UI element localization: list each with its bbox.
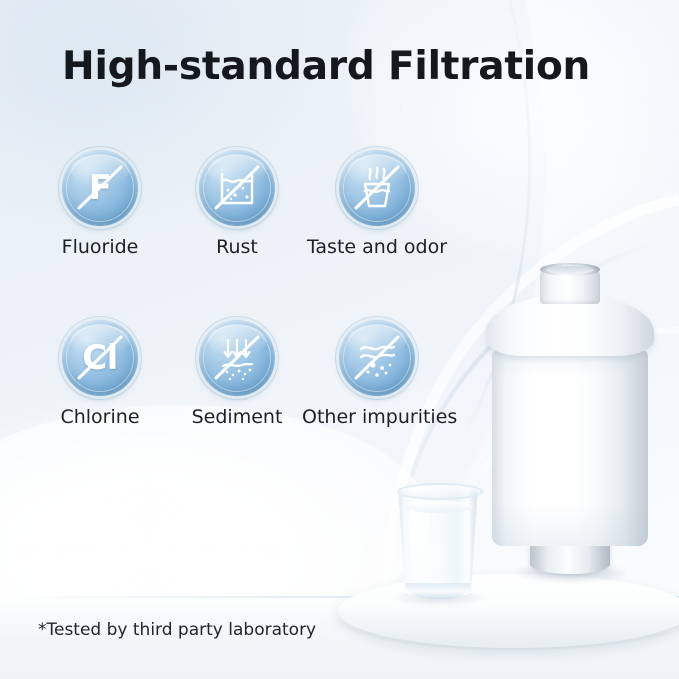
product-feature-image: High-standard Filtration F Fluoride	[0, 0, 679, 679]
rust-no-icon	[199, 150, 275, 226]
odor-glass-steam-icon	[339, 150, 415, 226]
water-waves-particles-icon	[339, 320, 415, 396]
other-impurities-no-icon	[339, 320, 415, 396]
sediment-no-icon	[199, 320, 275, 396]
glass-highlight	[409, 509, 416, 581]
filter-neck-opening	[546, 266, 594, 274]
feature-label: Other impurities	[302, 406, 452, 428]
prohibition-slash-icon	[62, 150, 138, 226]
feature-label: Taste and odor	[302, 236, 452, 258]
prohibition-slash-icon	[62, 320, 138, 396]
chlorine-no-icon: Cl	[62, 320, 138, 396]
glass-rim	[397, 483, 483, 500]
fluoride-no-icon: F	[62, 150, 138, 226]
pedestal-disc	[338, 574, 679, 648]
feature-label: Chlorine	[25, 406, 175, 428]
footnote-disclaimer: *Tested by third party laboratory	[38, 620, 316, 640]
feature-label: Rust	[162, 236, 312, 258]
feature-sediment[interactable]: Sediment	[162, 320, 312, 428]
page-title: High-standard Filtration	[62, 44, 590, 89]
feature-label: Fluoride	[25, 236, 175, 258]
feature-taste-odor[interactable]: Taste and odor	[302, 150, 452, 258]
taste-odor-no-icon	[339, 150, 415, 226]
feature-label: Sediment	[162, 406, 312, 428]
rust-container-icon	[199, 150, 275, 226]
filter-body-shading	[492, 350, 648, 546]
feature-other-impurities[interactable]: Other impurities	[302, 320, 452, 428]
feature-rust[interactable]: Rust	[162, 150, 312, 258]
feature-chlorine[interactable]: Cl Chlorine	[25, 320, 175, 428]
feature-fluoride[interactable]: F Fluoride	[25, 150, 175, 258]
sediment-settling-icon	[199, 320, 275, 396]
